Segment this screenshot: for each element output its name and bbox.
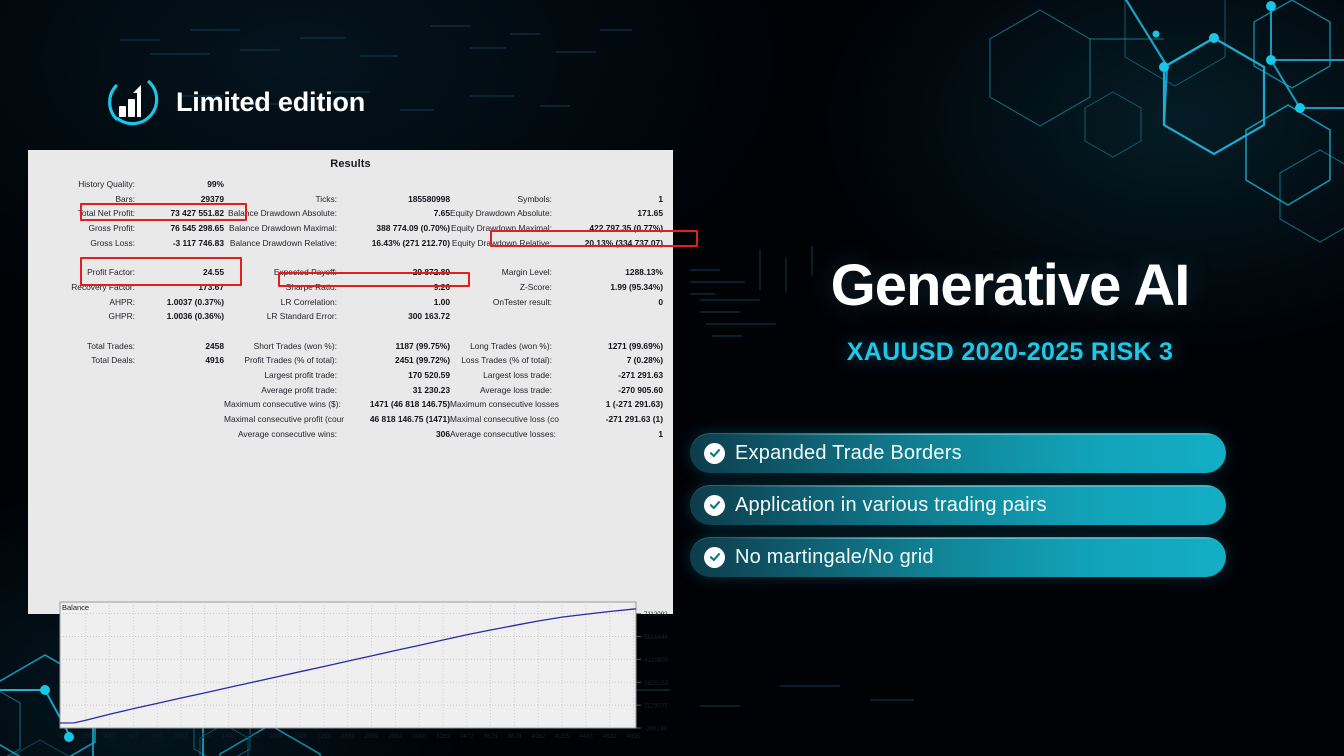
stat-value: -270 905.60 — [559, 383, 663, 398]
feature-pill[interactable]: Expanded Trade Borders — [690, 433, 1226, 473]
stat-row: Average consecutive wins:306 — [224, 427, 450, 442]
svg-text:4488: 4488 — [579, 733, 593, 740]
stat-row: Gross Profit:76 545 298.65 — [38, 221, 224, 236]
stat-spacer — [224, 250, 450, 265]
stat-spacer — [38, 250, 224, 265]
bar-chart-crescent-logo-icon — [104, 74, 160, 130]
stat-row: Average loss trade:-270 905.60 — [450, 383, 663, 398]
svg-text:1236: 1236 — [198, 733, 212, 740]
stat-label: Largest loss trade: — [450, 368, 559, 383]
stat-value: 388 774.09 (0.70%) — [344, 221, 450, 236]
stat-value: 16.43% (271 212.70) — [344, 236, 450, 251]
stat-row: Gross Loss:-3 117 746.83 — [38, 236, 224, 251]
stat-row: AHPR:1.0037 (0.37%) — [38, 295, 224, 310]
stat-row: Balance Drawdown Absolute:7.65 — [224, 206, 450, 221]
stat-value: 171.65 — [559, 206, 663, 221]
chart-series-label: Balance — [62, 603, 89, 612]
stat-row: LR Correlation:1.00 — [224, 295, 450, 310]
svg-text:4692: 4692 — [603, 733, 617, 740]
stat-value: 0 — [559, 295, 663, 310]
svg-text:1846: 1846 — [269, 733, 283, 740]
stat-row: Bars:29379 — [38, 192, 224, 207]
statistics-grid: History Quality:99%Bars:29379Total Net P… — [36, 177, 665, 441]
stat-label: GHPR: — [38, 309, 142, 324]
stat-label: History Quality: — [38, 177, 142, 192]
stat-spacer — [224, 177, 450, 192]
stat-label: Equity Drawdown Maximal: — [450, 221, 559, 236]
stat-row: LR Standard Error:300 163.72 — [224, 309, 450, 324]
stat-value: 46 818 146.75 (1471) — [344, 412, 450, 427]
stat-label: Z-Score: — [450, 280, 559, 295]
svg-text:2659: 2659 — [365, 733, 379, 740]
stat-value: 20.13% (334 737.07) — [559, 236, 663, 251]
stat-label: Gross Profit: — [38, 221, 142, 236]
svg-text:1129507: 1129507 — [644, 703, 668, 710]
svg-text:1033: 1033 — [174, 733, 188, 740]
stat-spacer — [450, 309, 663, 324]
stat-value: 1 (-271 291.63) — [559, 397, 663, 412]
svg-text:3472: 3472 — [460, 733, 474, 740]
stat-row: Margin Level:1288.13% — [450, 265, 663, 280]
stat-value: -271 291.63 — [559, 368, 663, 383]
stat-label: Gross Loss: — [38, 236, 142, 251]
stat-row: GHPR:1.0036 (0.36%) — [38, 309, 224, 324]
report-title: Results — [36, 156, 665, 177]
feature-list: Expanded Trade BordersApplication in var… — [690, 433, 1226, 577]
stat-value: 1471 (46 818 146.75) — [344, 397, 450, 412]
stat-label: Total Trades: — [38, 339, 142, 354]
stat-value: 170 520.59 — [344, 368, 450, 383]
stat-label: Average consecutive wins: — [224, 427, 344, 442]
stat-row: Largest loss trade:-271 291.63 — [450, 368, 663, 383]
stat-value: 7.65 — [344, 206, 450, 221]
page-subtitle: XAUUSD 2020-2025 RISK 3 — [690, 338, 1330, 367]
stat-row: Maximum consecutive losses ($):1 (-271 2… — [450, 397, 663, 412]
stat-value: 9.26 — [344, 280, 450, 295]
brand-header: Limited edition — [104, 74, 365, 130]
stat-label: Bars: — [38, 192, 142, 207]
stat-label: Balance Drawdown Relative: — [224, 236, 344, 251]
svg-text:0: 0 — [58, 733, 62, 740]
stat-row: History Quality:99% — [38, 177, 224, 192]
stat-value: 1 — [559, 192, 663, 207]
svg-text:-366138: -366138 — [644, 726, 667, 733]
svg-text:4895: 4895 — [627, 733, 641, 740]
stat-label: Average loss trade: — [450, 383, 559, 398]
stat-row: Symbols:1 — [450, 192, 663, 207]
svg-text:830: 830 — [152, 733, 163, 740]
stat-label: Sharpe Ratio: — [224, 280, 344, 295]
stat-value: 1.0037 (0.37%) — [142, 295, 224, 310]
stat-label: Profit Factor: — [38, 265, 142, 280]
stat-value: 1271 (99.69%) — [559, 339, 663, 354]
stat-label: OnTester result: — [450, 295, 559, 310]
stat-row: Maximal consecutive loss (count):-271 29… — [450, 412, 663, 427]
stat-value: 300 163.72 — [344, 309, 450, 324]
svg-text:1643: 1643 — [246, 733, 260, 740]
stat-value: 306 — [344, 427, 450, 442]
stats-column-left: History Quality:99%Bars:29379Total Net P… — [38, 177, 224, 441]
feature-pill[interactable]: Application in various trading pairs — [690, 485, 1226, 525]
stat-label: Recovery Factor: — [38, 280, 142, 295]
feature-label: Application in various trading pairs — [735, 494, 1047, 517]
svg-text:627: 627 — [128, 733, 139, 740]
stat-label: Equity Drawdown Relative: — [450, 236, 559, 251]
stat-spacer — [450, 250, 663, 265]
stat-value: 99% — [142, 177, 224, 192]
svg-text:3879: 3879 — [508, 733, 522, 740]
stat-value: 73 427 551.82 — [142, 206, 224, 221]
stat-row: Equity Drawdown Relative:20.13% (334 737… — [450, 236, 663, 251]
feature-label: No martingale/No grid — [735, 546, 934, 569]
stat-row: Ticks:185580998 — [224, 192, 450, 207]
stat-label: Symbols: — [450, 192, 559, 207]
check-circle-icon — [704, 443, 725, 464]
svg-text:3066: 3066 — [412, 733, 426, 740]
stat-row: Maximum consecutive wins ($):1471 (46 81… — [224, 397, 450, 412]
stat-row: Long Trades (won %):1271 (99.69%) — [450, 339, 663, 354]
svg-text:5616446: 5616446 — [644, 634, 669, 641]
stat-label: LR Correlation: — [224, 295, 344, 310]
stat-value: 1.99 (95.34%) — [559, 280, 663, 295]
stats-column-middle: Ticks:185580998Balance Drawdown Absolute… — [224, 177, 450, 441]
check-circle-icon — [704, 495, 725, 516]
stat-label: Average profit trade: — [224, 383, 344, 398]
balance-equity-chart: 71120925616446412080026251531129507-3661… — [58, 600, 698, 748]
stat-value: 29379 — [142, 192, 224, 207]
stat-row: Total Trades:2458 — [38, 339, 224, 354]
stat-row: Total Deals:4916 — [38, 353, 224, 368]
stat-label: Expected Payoff: — [224, 265, 344, 280]
stat-row: Balance Drawdown Relative:16.43% (271 21… — [224, 236, 450, 251]
stat-label: Average consecutive losses: — [450, 427, 559, 442]
stat-value: 422 797.35 (0.77%) — [559, 221, 663, 236]
stat-label: Equity Drawdown Absolute: — [450, 206, 559, 221]
stat-value: 1 — [559, 427, 663, 442]
brand-title: Limited edition — [176, 87, 365, 118]
stat-value: 1288.13% — [559, 265, 663, 280]
stat-row: Expected Payoff:29 872.89 — [224, 265, 450, 280]
svg-text:2625153: 2625153 — [644, 680, 669, 687]
stat-row: Equity Drawdown Maximal:422 797.35 (0.77… — [450, 221, 663, 236]
stat-row: Total Net Profit:73 427 551.82 — [38, 206, 224, 221]
stat-row: Largest profit trade:170 520.59 — [224, 368, 450, 383]
svg-text:4285: 4285 — [555, 733, 569, 740]
svg-text:2253: 2253 — [317, 733, 331, 740]
svg-text:220: 220 — [81, 733, 92, 740]
stat-label: Maximum consecutive losses ($): — [450, 397, 559, 412]
stat-value: -3 117 746.83 — [142, 236, 224, 251]
backtest-report-panel: Results History Quality:99%Bars:29379Tot… — [28, 150, 673, 614]
stat-row: Z-Score:1.99 (95.34%) — [450, 280, 663, 295]
svg-text:4082: 4082 — [531, 733, 545, 740]
svg-text:3675: 3675 — [484, 733, 498, 740]
stat-spacer — [450, 177, 663, 192]
stat-label: LR Standard Error: — [224, 309, 344, 324]
stat-spacer — [224, 324, 450, 339]
stat-label: Maximal consecutive profit (count): — [224, 412, 344, 427]
stat-row: Loss Trades (% of total):7 (0.28%) — [450, 353, 663, 368]
stat-label: Maximal consecutive loss (count): — [450, 412, 559, 427]
stat-label: Largest profit trade: — [224, 368, 344, 383]
svg-text:4120800: 4120800 — [644, 657, 669, 664]
stat-value: 185580998 — [344, 192, 450, 207]
balance-chart-svg: 71120925616446412080026251531129507-3661… — [58, 600, 698, 748]
stat-value: 173.67 — [142, 280, 224, 295]
stat-row: Balance Drawdown Maximal:388 774.09 (0.7… — [224, 221, 450, 236]
stat-label: Short Trades (won %): — [224, 339, 344, 354]
feature-pill[interactable]: No martingale/No grid — [690, 537, 1226, 577]
svg-text:2456: 2456 — [341, 733, 355, 740]
stat-label: Long Trades (won %): — [450, 339, 559, 354]
stat-row: Sharpe Ratio:9.26 — [224, 280, 450, 295]
stat-label: Ticks: — [224, 192, 344, 207]
stat-row: Recovery Factor:173.67 — [38, 280, 224, 295]
svg-text:7112092: 7112092 — [644, 611, 668, 618]
stat-row: Equity Drawdown Absolute:171.65 — [450, 206, 663, 221]
stat-value: 24.55 — [142, 265, 224, 280]
stat-value: 1187 (99.75%) — [344, 339, 450, 354]
stat-value: 29 872.89 — [344, 265, 450, 280]
stat-label: Loss Trades (% of total): — [450, 353, 559, 368]
stat-label: Balance Drawdown Maximal: — [224, 221, 344, 236]
svg-text:3269: 3269 — [436, 733, 450, 740]
stat-row: Average profit trade:31 230.23 — [224, 383, 450, 398]
stat-value: 1.00 — [344, 295, 450, 310]
stat-label: AHPR: — [38, 295, 142, 310]
stat-spacer — [450, 324, 663, 339]
stat-value: -271 291.63 (1) — [559, 412, 663, 427]
svg-text:1440: 1440 — [222, 733, 236, 740]
stat-value: 2458 — [142, 339, 224, 354]
stat-value: 1.0036 (0.36%) — [142, 309, 224, 324]
slide-root: Limited edition Results History Quality:… — [0, 0, 1344, 756]
stat-row: Average consecutive losses:1 — [450, 427, 663, 442]
svg-text:423: 423 — [104, 733, 115, 740]
stat-label: Margin Level: — [450, 265, 559, 280]
stat-spacer — [38, 324, 224, 339]
svg-text:2862: 2862 — [388, 733, 402, 740]
stat-row: Short Trades (won %):1187 (99.75%) — [224, 339, 450, 354]
stat-row: Profit Factor:24.55 — [38, 265, 224, 280]
stat-value: 4916 — [142, 353, 224, 368]
svg-text:2049: 2049 — [293, 733, 307, 740]
stat-label: Maximum consecutive wins ($): — [224, 397, 344, 412]
stat-value: 31 230.23 — [344, 383, 450, 398]
stat-label: Total Net Profit: — [38, 206, 142, 221]
stat-value: 7 (0.28%) — [559, 353, 663, 368]
stat-label: Balance Drawdown Absolute: — [224, 206, 344, 221]
stat-value: 76 545 298.65 — [142, 221, 224, 236]
stats-column-right: Symbols:1Equity Drawdown Absolute:171.65… — [450, 177, 663, 441]
stat-row: Maximal consecutive profit (count):46 81… — [224, 412, 450, 427]
stat-row: OnTester result:0 — [450, 295, 663, 310]
stat-label: Profit Trades (% of total): — [224, 353, 344, 368]
feature-label: Expanded Trade Borders — [735, 442, 962, 465]
stat-value: 2451 (99.72%) — [344, 353, 450, 368]
stat-label: Total Deals: — [38, 353, 142, 368]
check-circle-icon — [704, 547, 725, 568]
stat-row: Profit Trades (% of total):2451 (99.72%) — [224, 353, 450, 368]
page-title: Generative AI — [690, 256, 1330, 317]
